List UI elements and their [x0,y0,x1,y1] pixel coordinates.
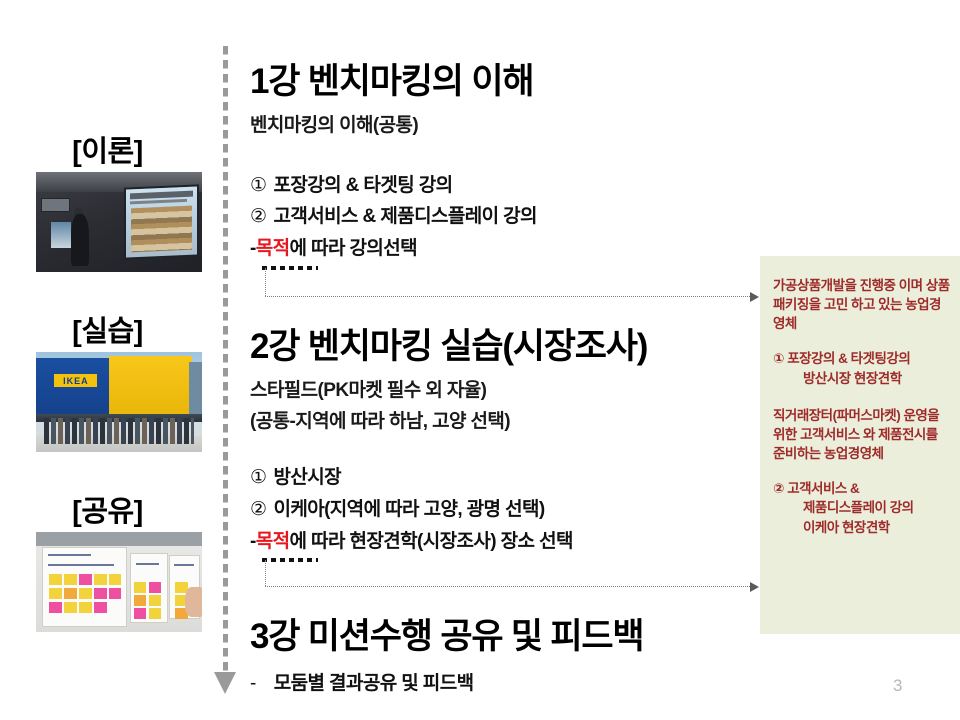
board-scribble-1 [48,554,91,556]
callout-item-2: ② 고객서비스 & 제품디스플레이 강의 이케아 현장견학 [773,479,951,536]
stage-label-practice: [실습] [0,308,215,350]
callout-item-1-line-2: 방산시장 현장견학 [803,369,902,388]
section-2-item-1: ①방산시장 [250,462,341,489]
projection-screen [126,186,197,257]
ikea-blue-facade [36,358,112,420]
lecture-photo [36,172,202,272]
sticky-note [79,602,91,613]
section-2-title: 2강 벤치마킹 실습(시장조사) [250,318,647,369]
section-2-item-2-number: ② [250,499,266,520]
callout-paragraph-2: 직거래장터(파머스마켓) 운영을 위한 고객서비스 와 제품전시를 준비하는 농… [773,406,951,463]
connector-1-line [265,296,752,298]
ikea-photo-art: IKEA [36,352,202,452]
callout-item-2-line-2: 제품디스플레이 강의 [803,498,914,517]
section-1-item-2-number: ② [250,206,266,227]
screen-subtitle-bar [130,198,187,204]
connector-1-arrow-icon [750,292,759,302]
section-2-item-1-number: ① [250,467,266,488]
ikea-side-building [189,362,202,420]
section-1-note: -목적에 따라 강의선택 [250,233,417,260]
callout-paragraph-1: 가공상품개발을 진행중 이며 상품패키징을 고민 하고 있는 농업경영체 [773,276,951,333]
connector-1-stub [262,266,318,270]
section-2-item-1-label: 방산시장 [273,467,341,488]
sticky-note [134,595,146,606]
ikea-photo: IKEA [36,352,202,452]
sticky-note [94,602,106,613]
sticky-note [49,588,61,599]
board-scribble-3 [136,563,159,565]
page-number: 3 [893,676,902,696]
sticky-note [94,588,106,599]
board-sheet-left [43,548,126,626]
callout-item-2-line-3: 이케아 현장견학 [803,518,890,537]
sticky-note [64,574,76,585]
section-3-item-dash: - [250,673,256,694]
sticky-note [149,608,161,619]
wall-poster [51,222,71,248]
slide-canvas: [이론] [실습] IKEA [공유] [0,0,960,720]
sticky-note [79,588,91,599]
sticky-note [64,602,76,613]
connector-2-stub [262,558,318,562]
section-1-item-2-label: 고객서비스 & 제품디스플레이 강의 [273,206,536,227]
sticky-note [79,574,91,585]
whiteboard-photo [36,532,202,632]
sticky-note [149,595,161,606]
section-1-subtitle: 벤치마킹의 이해(공통) [250,110,418,137]
callout-item-2-line-1: 고객서비스 & [787,481,859,496]
section-2-subtitle: 스타필드(PK마켓 필수 외 자율) [250,375,486,402]
sticky-note [109,588,121,599]
stage-label-theory: [이론] [0,128,215,170]
sticky-note [64,588,76,599]
section-1-item-1-label: 포장강의 & 타겟팅 강의 [273,175,452,196]
section-1-title: 1강 벤치마킹의 이해 [250,53,533,104]
timeline-dashed-line [223,46,228,676]
sticky-note [49,574,61,585]
wall-monitor [41,198,70,212]
photographer-hand [185,587,202,617]
section-2-note: -목적에 따라 현장견학(시장조사) 장소 선택 [250,526,573,553]
sticky-note [94,574,106,585]
section-3-item: -모둠별 결과공유 및 피드백 [250,668,473,695]
section-1-item-1: ①포장강의 & 타겟팅 강의 [250,170,453,197]
section-2-item-2: ②이케아(지역에 따라 고양, 광명 선택) [250,494,545,521]
board-scribble-2 [48,564,114,566]
sticky-note [109,574,121,585]
section-1-note-rest: 에 따라 강의선택 [290,238,418,259]
connector-1-riser [265,268,267,296]
section-1-item-2: ②고객서비스 & 제품디스플레이 강의 [250,201,537,228]
ikea-logo: IKEA [54,374,97,387]
whiteboard-photo-art [36,532,202,632]
ikea-yellow-facade [109,356,192,420]
section-2-note-accent: 목적 [256,531,290,552]
callout-item-1-line-1: 포장강의 & 타겟팅강의 [787,351,910,366]
section-3-item-label: 모둠별 결과공유 및 피드백 [274,673,474,694]
callout-item-2-number: ② [773,481,784,496]
section-2-note-rest: 에 따라 현장견학(시장조사) 장소 선택 [290,531,573,552]
timeline-arrow-icon [214,672,236,694]
sticky-note [149,582,161,593]
section-1-note-accent: 목적 [256,238,290,259]
connector-2-line [265,586,752,588]
target-audience-callout: 가공상품개발을 진행중 이며 상품패키징을 고민 하고 있는 농업경영체 ① 포… [760,256,960,634]
section-2-item-2-label: 이케아(지역에 따라 고양, 광명 선택) [273,499,544,520]
presenter-body [71,214,89,266]
callout-item-1-number: ① [773,351,784,366]
lecture-photo-art [36,172,202,272]
section-2-subtitle-2: (공통-지역에 따라 하남, 고양 선택) [250,406,510,433]
section-3-title: 3강 미션수행 공유 및 피드백 [250,608,643,659]
screen-shelf-image [131,206,192,252]
sticky-note [49,602,61,613]
sticky-note [134,582,146,593]
ikea-group-people [44,418,193,444]
section-1-item-1-number: ① [250,175,266,196]
connector-2-riser [265,560,267,586]
board-scribble-4 [174,564,194,566]
stage-label-share: [공유] [0,488,215,530]
sticky-note [134,608,146,619]
connector-2-arrow-icon [750,582,759,592]
wall-strip [36,532,202,546]
callout-item-1: ① 포장강의 & 타겟팅강의 방산시장 현장견학 [773,349,951,387]
